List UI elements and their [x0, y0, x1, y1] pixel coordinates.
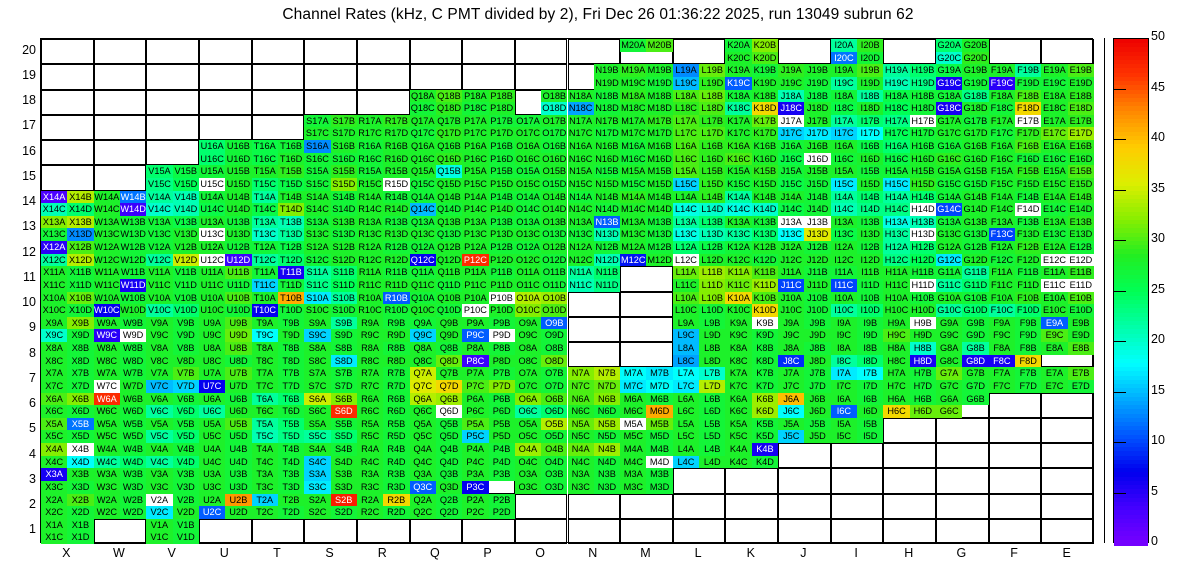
heatmap-channel[interactable]: I16A	[831, 140, 857, 153]
heatmap-channel[interactable]: Q2B	[436, 494, 462, 507]
heatmap-channel[interactable]: W9D	[120, 329, 146, 342]
heatmap-channel[interactable]: T3D	[278, 481, 304, 494]
heatmap-channel[interactable]: N5D	[594, 430, 620, 443]
heatmap-cell[interactable]: V10AV10BV10CV10D	[146, 292, 199, 317]
heatmap-cell[interactable]: J18AJ18BJ18CJ18D	[778, 90, 831, 115]
heatmap-channel[interactable]: J5A	[778, 418, 804, 431]
heatmap-cell[interactable]: K14AK14BK14CK14D	[725, 191, 778, 216]
heatmap-cell[interactable]: M20AM20B	[620, 39, 673, 64]
heatmap-channel[interactable]: P12A	[462, 241, 488, 254]
heatmap-channel[interactable]: M18B	[646, 90, 672, 103]
heatmap-cell[interactable]: K16AK16BK16CK16D	[725, 140, 778, 165]
heatmap-channel[interactable]: K5D	[752, 430, 778, 443]
heatmap-channel[interactable]: L10B	[699, 292, 725, 305]
heatmap-cell[interactable]: L6AL6BL6CL6D	[673, 393, 726, 418]
heatmap-channel[interactable]: S8A	[304, 342, 330, 355]
heatmap-channel[interactable]: M3B	[646, 468, 672, 481]
heatmap-channel[interactable]: I5A	[831, 418, 857, 431]
heatmap-channel[interactable]: M6D	[646, 405, 672, 418]
heatmap-cell[interactable]: G11AG11BG11CG11D	[936, 266, 989, 291]
heatmap-channel[interactable]: N15B	[594, 165, 620, 178]
heatmap-channel[interactable]: P16C	[462, 153, 488, 166]
heatmap-channel[interactable]: F14D	[1015, 203, 1041, 216]
heatmap-cell[interactable]: V15AV15BV15CV15D	[146, 165, 199, 190]
heatmap-channel[interactable]: O7B	[541, 367, 567, 380]
heatmap-cell[interactable]: K17AK17BK17CK17D	[725, 115, 778, 140]
heatmap-channel[interactable]: E16D	[1068, 153, 1094, 166]
heatmap-channel[interactable]: U9A	[199, 317, 225, 330]
heatmap-channel[interactable]: Q7A	[410, 367, 436, 380]
heatmap-cell[interactable]: X1AX1BX1CX1D	[41, 519, 94, 544]
heatmap-channel[interactable]: J5B	[804, 418, 830, 431]
heatmap-cell[interactable]: S4AS4BS4CS4D	[304, 443, 357, 468]
heatmap-channel[interactable]: J16D	[804, 153, 830, 166]
heatmap-channel[interactable]: U10A	[199, 292, 225, 305]
heatmap-channel[interactable]: G10C	[936, 304, 962, 317]
heatmap-channel[interactable]: R17C	[357, 127, 383, 140]
heatmap-channel[interactable]: R14A	[357, 191, 383, 204]
heatmap-channel[interactable]: V5D	[173, 430, 199, 443]
heatmap-channel[interactable]: X2C	[41, 506, 67, 519]
heatmap-channel[interactable]: U14A	[199, 191, 225, 204]
heatmap-cell[interactable]: O17AO17BO17CO17D	[515, 115, 568, 140]
heatmap-channel[interactable]: H18D	[910, 102, 936, 115]
heatmap-channel[interactable]: M14B	[646, 191, 672, 204]
heatmap-channel[interactable]: H19B	[910, 64, 936, 77]
heatmap-channel[interactable]: X11C	[41, 279, 67, 292]
heatmap-channel[interactable]: O15D	[541, 178, 567, 191]
heatmap-channel[interactable]: J19C	[778, 77, 804, 90]
heatmap-channel[interactable]: U2B	[225, 494, 251, 507]
heatmap-channel[interactable]: K12B	[752, 241, 778, 254]
heatmap-channel[interactable]: L11A	[673, 266, 699, 279]
heatmap-channel[interactable]: O9B	[541, 317, 567, 330]
heatmap-channel[interactable]: O18D	[541, 102, 567, 115]
heatmap-channel[interactable]: I8C	[831, 355, 857, 368]
heatmap-cell[interactable]: X14AX14BX14CX14D	[41, 191, 94, 216]
heatmap-channel[interactable]: R13D	[383, 228, 409, 241]
heatmap-channel[interactable]: R15D	[383, 178, 409, 191]
heatmap-channel[interactable]: U14C	[199, 203, 225, 216]
heatmap-cell[interactable]: G7AG7BG7CG7D	[936, 367, 989, 392]
heatmap-channel[interactable]: X7D	[67, 380, 93, 393]
heatmap-channel[interactable]: N7A	[568, 367, 594, 380]
heatmap-channel[interactable]: F7C	[989, 380, 1015, 393]
heatmap-channel[interactable]: M5A	[620, 418, 646, 431]
heatmap-channel[interactable]: I14B	[857, 191, 883, 204]
heatmap-channel[interactable]: S6A	[304, 393, 330, 406]
heatmap-channel[interactable]: V13B	[173, 216, 199, 229]
heatmap-cell[interactable]: L7AL7BL7CL7D	[673, 367, 726, 392]
heatmap-channel[interactable]: W5D	[120, 430, 146, 443]
heatmap-channel[interactable]: T10D	[278, 304, 304, 317]
heatmap-channel[interactable]: K17B	[752, 115, 778, 128]
heatmap-channel[interactable]: I20A	[831, 39, 857, 52]
heatmap-channel[interactable]: E10C	[1041, 304, 1067, 317]
heatmap-cell[interactable]: O3AO3BO3CO3D	[515, 468, 568, 493]
heatmap-channel[interactable]: H9B	[910, 317, 936, 330]
heatmap-cell[interactable]: N3AN3BN3CN3D	[568, 468, 621, 493]
heatmap-channel[interactable]: R5A	[357, 418, 383, 431]
heatmap-cell[interactable]: H15AH15BH15CH15D	[883, 165, 936, 190]
heatmap-channel[interactable]: X2D	[67, 506, 93, 519]
heatmap-channel[interactable]: K8A	[725, 342, 751, 355]
heatmap-cell[interactable]: J6AJ6BJ6CJ6D	[778, 393, 831, 418]
heatmap-channel[interactable]: R9D	[383, 329, 409, 342]
heatmap-cell[interactable]: S5AS5BS5CS5D	[304, 418, 357, 443]
heatmap-cell[interactable]: X9AX9BX9CX9D	[41, 317, 94, 342]
heatmap-channel[interactable]: E17C	[1041, 127, 1067, 140]
heatmap-channel[interactable]: L18C	[673, 102, 699, 115]
heatmap-cell[interactable]: G6AG6BG6C	[936, 393, 989, 418]
heatmap-channel[interactable]: X3C	[41, 481, 67, 494]
heatmap-cell[interactable]: U6AU6BU6CU6D	[199, 393, 252, 418]
heatmap-cell[interactable]: R10AR10BR10CR10D	[357, 292, 410, 317]
heatmap-channel[interactable]: T9A	[252, 317, 278, 330]
heatmap-channel[interactable]: E17A	[1041, 115, 1067, 128]
heatmap-channel[interactable]: O9C	[515, 329, 541, 342]
heatmap-channel[interactable]: L19A	[673, 64, 699, 77]
heatmap-channel[interactable]: I18B	[857, 90, 883, 103]
heatmap-cell[interactable]: W11AW11BW11CW11D	[94, 266, 147, 291]
heatmap-channel[interactable]: F9A	[989, 317, 1015, 330]
heatmap-channel[interactable]: M3D	[646, 481, 672, 494]
heatmap-channel[interactable]: I17B	[857, 115, 883, 128]
heatmap-channel[interactable]: T8A	[252, 342, 278, 355]
heatmap-channel[interactable]: O13B	[541, 216, 567, 229]
heatmap-channel[interactable]: M7B	[646, 367, 672, 380]
heatmap-channel[interactable]: I16D	[857, 153, 883, 166]
heatmap-cell[interactable]: V12AV12BV12CV12D	[146, 241, 199, 266]
heatmap-cell[interactable]: X5AX5BX5CX5D	[41, 418, 94, 443]
heatmap-channel[interactable]: K20B	[752, 39, 778, 52]
heatmap-cell[interactable]: I14AI14BI14CI14D	[831, 191, 884, 216]
heatmap-channel[interactable]: G16A	[936, 140, 962, 153]
heatmap-channel[interactable]: X9D	[67, 329, 93, 342]
heatmap-channel[interactable]: V10A	[146, 292, 172, 305]
heatmap-channel[interactable]: E7C	[1041, 380, 1067, 393]
heatmap-channel[interactable]: P14A	[462, 191, 488, 204]
heatmap-channel[interactable]: L9D	[699, 329, 725, 342]
heatmap-cell[interactable]: T13AT13BT13CT13D	[252, 216, 305, 241]
heatmap-channel[interactable]: J10D	[804, 304, 830, 317]
heatmap-channel[interactable]: T4A	[252, 443, 278, 456]
heatmap-cell[interactable]: N6AN6BN6CN6D	[568, 393, 621, 418]
heatmap-channel[interactable]: W8C	[94, 355, 120, 368]
heatmap-cell[interactable]: U13AU13BU13CU13D	[199, 216, 252, 241]
heatmap-channel[interactable]: I15A	[831, 165, 857, 178]
heatmap-channel[interactable]: U7D	[225, 380, 251, 393]
heatmap-channel[interactable]: T13A	[252, 216, 278, 229]
heatmap-channel[interactable]: S16A	[304, 140, 330, 153]
heatmap-cell[interactable]: H12AH12BH12CH12D	[883, 241, 936, 266]
heatmap-channel[interactable]: T6B	[278, 393, 304, 406]
heatmap-channel[interactable]: L9A	[673, 317, 699, 330]
heatmap-channel[interactable]: J13A	[778, 216, 804, 229]
heatmap-channel[interactable]: J9C	[778, 329, 804, 342]
heatmap-channel[interactable]: G16C	[936, 153, 962, 166]
heatmap-cell[interactable]: J7AJ7BJ7CJ7D	[778, 367, 831, 392]
heatmap-channel[interactable]: Q4A	[410, 443, 436, 456]
heatmap-channel[interactable]: M13B	[646, 216, 672, 229]
heatmap-channel[interactable]: P5D	[489, 430, 515, 443]
heatmap-cell[interactable]: E16AE16BE16CE16D	[1041, 140, 1094, 165]
heatmap-channel[interactable]: E18D	[1068, 102, 1094, 115]
heatmap-channel[interactable]: P11A	[462, 266, 488, 279]
heatmap-channel[interactable]: K10B	[752, 292, 778, 305]
heatmap-cell[interactable]: J11AJ11BJ11CJ11D	[778, 266, 831, 291]
heatmap-cell[interactable]: G12AG12BG12CG12D	[936, 241, 989, 266]
heatmap-channel[interactable]: F8C	[989, 355, 1015, 368]
heatmap-channel[interactable]: Q16D	[436, 153, 462, 166]
heatmap-channel[interactable]: V2D	[173, 506, 199, 519]
heatmap-channel[interactable]: S3D	[331, 481, 357, 494]
heatmap-cell[interactable]: X6AX6BX6CX6D	[41, 393, 94, 418]
heatmap-channel[interactable]: N13D	[594, 228, 620, 241]
heatmap-channel[interactable]: H12A	[883, 241, 909, 254]
heatmap-channel[interactable]: V12A	[146, 241, 172, 254]
heatmap-cell[interactable]: F13AF13BF13CF13D	[989, 216, 1042, 241]
heatmap-channel[interactable]: I18C	[831, 102, 857, 115]
heatmap-channel[interactable]: P2C	[462, 506, 488, 519]
heatmap-cell[interactable]: O7AO7BO7CO7D	[515, 367, 568, 392]
heatmap-channel[interactable]: I6C	[831, 405, 857, 418]
heatmap-channel[interactable]: M15D	[646, 178, 672, 191]
heatmap-channel[interactable]: H9A	[883, 317, 909, 330]
heatmap-channel[interactable]: O11D	[541, 279, 567, 292]
heatmap-cell[interactable]: H7AH7BH7CH7D	[883, 367, 936, 392]
heatmap-cell[interactable]: T2AT2BT2CT2D	[252, 494, 305, 519]
heatmap-cell[interactable]: V2AV2BV2CV2D	[146, 494, 199, 519]
heatmap-channel[interactable]: F11C	[989, 279, 1015, 292]
heatmap-channel[interactable]: U8D	[225, 355, 251, 368]
heatmap-channel[interactable]: I17D	[857, 127, 883, 140]
heatmap-channel[interactable]: W12C	[94, 254, 120, 267]
heatmap-channel[interactable]: G18B	[962, 90, 988, 103]
heatmap-channel[interactable]: E14D	[1068, 203, 1094, 216]
heatmap-channel[interactable]: V14D	[173, 203, 199, 216]
heatmap-channel[interactable]: E13A	[1041, 216, 1067, 229]
heatmap-channel[interactable]: N11C	[568, 279, 594, 292]
heatmap-channel[interactable]: F18C	[989, 102, 1015, 115]
heatmap-channel[interactable]: N6D	[594, 405, 620, 418]
heatmap-cell[interactable]: J8AJ8BJ8CJ8D	[778, 342, 831, 367]
heatmap-channel[interactable]: I11D	[857, 279, 883, 292]
heatmap-cell[interactable]: E7AE7BE7CE7D	[1041, 367, 1094, 392]
heatmap-channel[interactable]: K5A	[725, 418, 751, 431]
heatmap-channel[interactable]: U14D	[225, 203, 251, 216]
heatmap-channel[interactable]: S8B	[331, 342, 357, 355]
heatmap-channel[interactable]: U4B	[225, 443, 251, 456]
heatmap-channel[interactable]: N12C	[568, 254, 594, 267]
heatmap-channel[interactable]: G14C	[936, 203, 962, 216]
heatmap-channel[interactable]: M18C	[620, 102, 646, 115]
heatmap-channel[interactable]: S12A	[304, 241, 330, 254]
heatmap-cell[interactable]: T11AT11BT11CT11D	[252, 266, 305, 291]
heatmap-channel[interactable]: M12C	[620, 254, 646, 267]
heatmap-channel[interactable]: U2A	[199, 494, 225, 507]
heatmap-channel[interactable]: H8A	[883, 342, 909, 355]
heatmap-channel[interactable]: H15A	[883, 165, 909, 178]
heatmap-cell[interactable]: T6AT6BT6CT6D	[252, 393, 305, 418]
heatmap-channel[interactable]: U3A	[199, 468, 225, 481]
heatmap-channel[interactable]: L11C	[673, 279, 699, 292]
heatmap-channel[interactable]: R12D	[383, 254, 409, 267]
heatmap-channel[interactable]: I7C	[831, 380, 857, 393]
heatmap-channel[interactable]: W10A	[94, 292, 120, 305]
heatmap-channel[interactable]: P5B	[489, 418, 515, 431]
heatmap-channel[interactable]: J8C	[778, 355, 804, 368]
heatmap-channel[interactable]: R3A	[357, 468, 383, 481]
heatmap-cell[interactable]: I19AI19BI19CI19D	[831, 64, 884, 89]
heatmap-channel[interactable]: V10C	[146, 304, 172, 317]
heatmap-channel[interactable]: X6D	[67, 405, 93, 418]
heatmap-cell[interactable]: S13AS13BS13CS13D	[304, 216, 357, 241]
heatmap-channel[interactable]: L4B	[699, 443, 725, 456]
heatmap-channel[interactable]: R7A	[357, 367, 383, 380]
heatmap-channel[interactable]: N7C	[568, 380, 594, 393]
heatmap-channel[interactable]: H12D	[910, 254, 936, 267]
heatmap-channel[interactable]: R4A	[357, 443, 383, 456]
heatmap-channel[interactable]: Q9B	[436, 317, 462, 330]
heatmap-channel[interactable]: K16D	[752, 153, 778, 166]
heatmap-cell[interactable]: Q12AQ12BQ12CQ12D	[410, 241, 463, 266]
heatmap-channel[interactable]: H17D	[910, 127, 936, 140]
heatmap-channel[interactable]: R7C	[357, 380, 383, 393]
heatmap-channel[interactable]: G17B	[962, 115, 988, 128]
heatmap-channel[interactable]: J17D	[804, 127, 830, 140]
heatmap-channel[interactable]: M16B	[646, 140, 672, 153]
heatmap-channel[interactable]: T8B	[278, 342, 304, 355]
heatmap-channel[interactable]: N13A	[568, 216, 594, 229]
heatmap-channel[interactable]: M19A	[620, 64, 646, 77]
heatmap-channel[interactable]: R10A	[357, 292, 383, 305]
heatmap-channel[interactable]: E9D	[1068, 329, 1094, 342]
heatmap-cell[interactable]: U5AU5BU5CU5D	[199, 418, 252, 443]
heatmap-channel[interactable]: J12B	[804, 241, 830, 254]
heatmap-channel[interactable]: T15C	[252, 178, 278, 191]
heatmap-cell[interactable]: N12AN12BN12CN12D	[568, 241, 621, 266]
heatmap-channel[interactable]: M13D	[646, 228, 672, 241]
heatmap-channel[interactable]: X8B	[67, 342, 93, 355]
heatmap-channel[interactable]: L15B	[699, 165, 725, 178]
heatmap-channel[interactable]: U16A	[199, 140, 225, 153]
heatmap-channel[interactable]: T16A	[252, 140, 278, 153]
heatmap-channel[interactable]: K15C	[725, 178, 751, 191]
heatmap-channel[interactable]: X2A	[41, 494, 67, 507]
heatmap-channel[interactable]: P13D	[489, 228, 515, 241]
heatmap-channel[interactable]: J6C	[778, 405, 804, 418]
heatmap-channel[interactable]: N11A	[568, 266, 594, 279]
heatmap-channel[interactable]: T8D	[278, 355, 304, 368]
heatmap-channel[interactable]: G17D	[962, 127, 988, 140]
heatmap-channel[interactable]: F16A	[989, 140, 1015, 153]
heatmap-cell[interactable]: W4AW4BW4CW4D	[94, 443, 147, 468]
heatmap-cell[interactable]: K10AK10BK10CK10D	[725, 292, 778, 317]
heatmap-channel[interactable]: L12A	[673, 241, 699, 254]
heatmap-channel[interactable]: Q7D	[436, 380, 462, 393]
heatmap-channel[interactable]: H19C	[883, 77, 909, 90]
heatmap-cell[interactable]: X2AX2BX2CX2D	[41, 494, 94, 519]
heatmap-channel[interactable]: P9A	[462, 317, 488, 330]
heatmap-channel[interactable]: N15A	[568, 165, 594, 178]
heatmap-channel[interactable]: R16A	[357, 140, 383, 153]
heatmap-channel[interactable]: W6D	[120, 405, 146, 418]
heatmap-channel[interactable]: G10D	[962, 304, 988, 317]
heatmap-channel[interactable]: U13D	[225, 228, 251, 241]
heatmap-channel[interactable]: F10C	[989, 304, 1015, 317]
heatmap-channel[interactable]: T13C	[252, 228, 278, 241]
heatmap-channel[interactable]: Q11A	[410, 266, 436, 279]
heatmap-channel[interactable]: N5C	[568, 430, 594, 443]
heatmap-channel[interactable]: Q6A	[410, 393, 436, 406]
heatmap-channel[interactable]: S14C	[304, 203, 330, 216]
heatmap-channel[interactable]: R13A	[357, 216, 383, 229]
heatmap-channel[interactable]: I16B	[857, 140, 883, 153]
heatmap-channel[interactable]: G15B	[962, 165, 988, 178]
heatmap-channel[interactable]: Q16A	[410, 140, 436, 153]
heatmap-channel[interactable]: R14D	[383, 203, 409, 216]
heatmap-cell[interactable]: F17AF17BF17CF17D	[989, 115, 1042, 140]
heatmap-cell[interactable]: F7AF7BF7CF7D	[989, 367, 1042, 392]
heatmap-channel[interactable]: L15A	[673, 165, 699, 178]
heatmap-channel[interactable]: O11B	[541, 266, 567, 279]
heatmap-channel[interactable]: I12C	[831, 254, 857, 267]
heatmap-channel[interactable]: V5A	[146, 418, 172, 431]
heatmap-channel[interactable]: Q18B	[436, 90, 462, 103]
heatmap-cell[interactable]: R9AR9BR9CR9D	[357, 317, 410, 342]
heatmap-channel[interactable]: H11D	[910, 279, 936, 292]
heatmap-channel[interactable]: G19C	[936, 77, 962, 90]
heatmap-cell[interactable]: X3AX3BX3CX3D	[41, 468, 94, 493]
heatmap-channel[interactable]: N17B	[594, 115, 620, 128]
heatmap-channel[interactable]: N17A	[568, 115, 594, 128]
heatmap-cell[interactable]: N5AN5BN5CN5D	[568, 418, 621, 443]
heatmap-channel[interactable]: S3A	[304, 468, 330, 481]
heatmap-channel[interactable]: E11C	[1041, 279, 1067, 292]
heatmap-cell[interactable]: M3AM3BM3CM3D	[620, 468, 673, 493]
heatmap-channel[interactable]: G20A	[936, 39, 962, 52]
heatmap-channel[interactable]: J11D	[804, 279, 830, 292]
heatmap-cell[interactable]: I13AI13BI13CI13D	[831, 216, 884, 241]
heatmap-channel[interactable]: F17B	[1015, 115, 1041, 128]
heatmap-channel[interactable]: S8D	[331, 355, 357, 368]
heatmap-channel[interactable]: V15C	[146, 178, 172, 191]
heatmap-channel[interactable]: N4A	[568, 443, 594, 456]
heatmap-cell[interactable]: M6AM6BM6CM6D	[620, 393, 673, 418]
heatmap-channel[interactable]: S2D	[331, 506, 357, 519]
heatmap-channel[interactable]: I7B	[857, 367, 883, 380]
heatmap-channel[interactable]: X2B	[67, 494, 93, 507]
heatmap-channel[interactable]: O4D	[541, 456, 567, 469]
heatmap-cell[interactable]: E11AE11BE11CE11D	[1041, 266, 1094, 291]
heatmap-channel[interactable]: X6A	[41, 393, 67, 406]
heatmap-channel[interactable]: X6B	[67, 393, 93, 406]
heatmap-channel[interactable]: L7A	[673, 367, 699, 380]
heatmap-channel[interactable]: Q8A	[410, 342, 436, 355]
heatmap-channel[interactable]: T11A	[252, 266, 278, 279]
heatmap-cell[interactable]: W10AW10BW10CW10D	[94, 292, 147, 317]
heatmap-channel[interactable]: H15D	[910, 178, 936, 191]
heatmap-channel[interactable]: U11D	[225, 279, 251, 292]
heatmap-channel[interactable]: R15A	[357, 165, 383, 178]
heatmap-channel[interactable]: F7B	[1015, 367, 1041, 380]
heatmap-cell[interactable]: T4AT4BT4CT4D	[252, 443, 305, 468]
heatmap-channel[interactable]: H11C	[883, 279, 909, 292]
heatmap-channel[interactable]: S16C	[304, 153, 330, 166]
heatmap-channel[interactable]: F14B	[1015, 191, 1041, 204]
heatmap-channel[interactable]: U15C	[199, 178, 225, 191]
